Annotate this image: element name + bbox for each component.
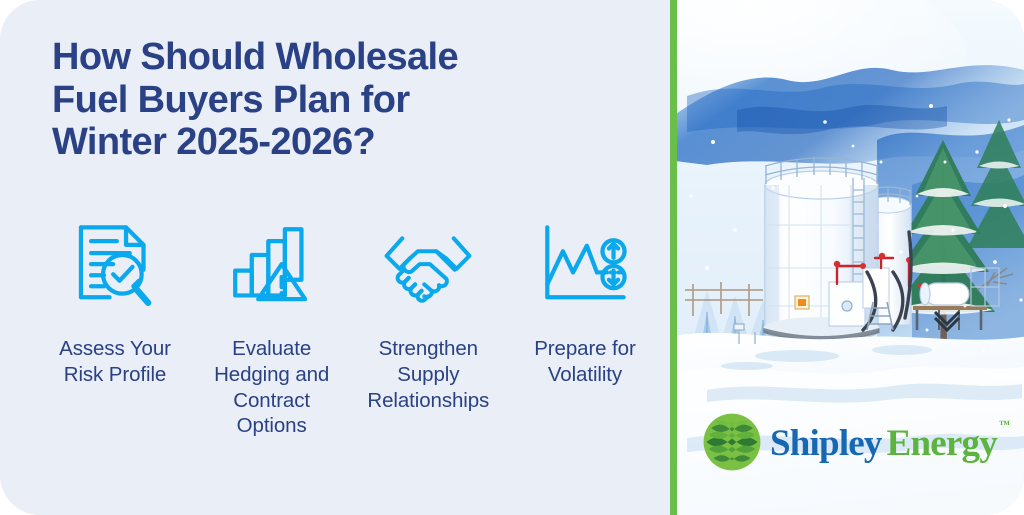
pillar-label: Evaluate Hedging and Contract Options bbox=[214, 336, 329, 439]
pillar-item-assess-risk: Assess Your Risk Profile bbox=[40, 218, 190, 388]
panel-divider bbox=[670, 0, 677, 515]
bar-chart-warning-icon bbox=[224, 218, 320, 314]
pillar-item-strengthen-supply: Strengthen Supply Relationships bbox=[353, 218, 503, 413]
shipley-energy-logo: ShipleyEnergy™ bbox=[703, 413, 1007, 471]
shipley-energy-logo-mark bbox=[703, 413, 761, 471]
handshake-icon bbox=[380, 218, 476, 314]
pillar-list: Assess Your Risk Profile Evaluate Hedgi bbox=[40, 218, 660, 439]
pillar-label: Strengthen Supply Relationships bbox=[367, 336, 489, 413]
trademark-symbol: ™ bbox=[999, 419, 1009, 431]
winter-fuel-storage-tank-illustration: ShipleyEnergy™ bbox=[677, 0, 1024, 515]
pillar-label: Prepare for Volatility bbox=[534, 336, 635, 388]
page-title: How Should Wholesale Fuel Buyers Plan fo… bbox=[52, 36, 572, 164]
logo-primary-text: Shipley bbox=[770, 423, 882, 464]
pillar-item-prepare-volatility: Prepare for Volatility bbox=[510, 218, 660, 388]
pillar-label: Assess Your Risk Profile bbox=[59, 336, 171, 388]
pillar-item-evaluate-hedging: Evaluate Hedging and Contract Options bbox=[197, 218, 347, 439]
infographic-card: How Should Wholesale Fuel Buyers Plan fo… bbox=[0, 0, 1024, 515]
document-magnifier-check-icon bbox=[67, 218, 163, 314]
logo-secondary-text: Energy bbox=[887, 423, 997, 464]
volatility-chart-arrows-icon bbox=[537, 218, 633, 314]
logo-wordmark: ShipleyEnergy™ bbox=[770, 425, 1007, 462]
left-content-panel: How Should Wholesale Fuel Buyers Plan fo… bbox=[0, 0, 670, 515]
